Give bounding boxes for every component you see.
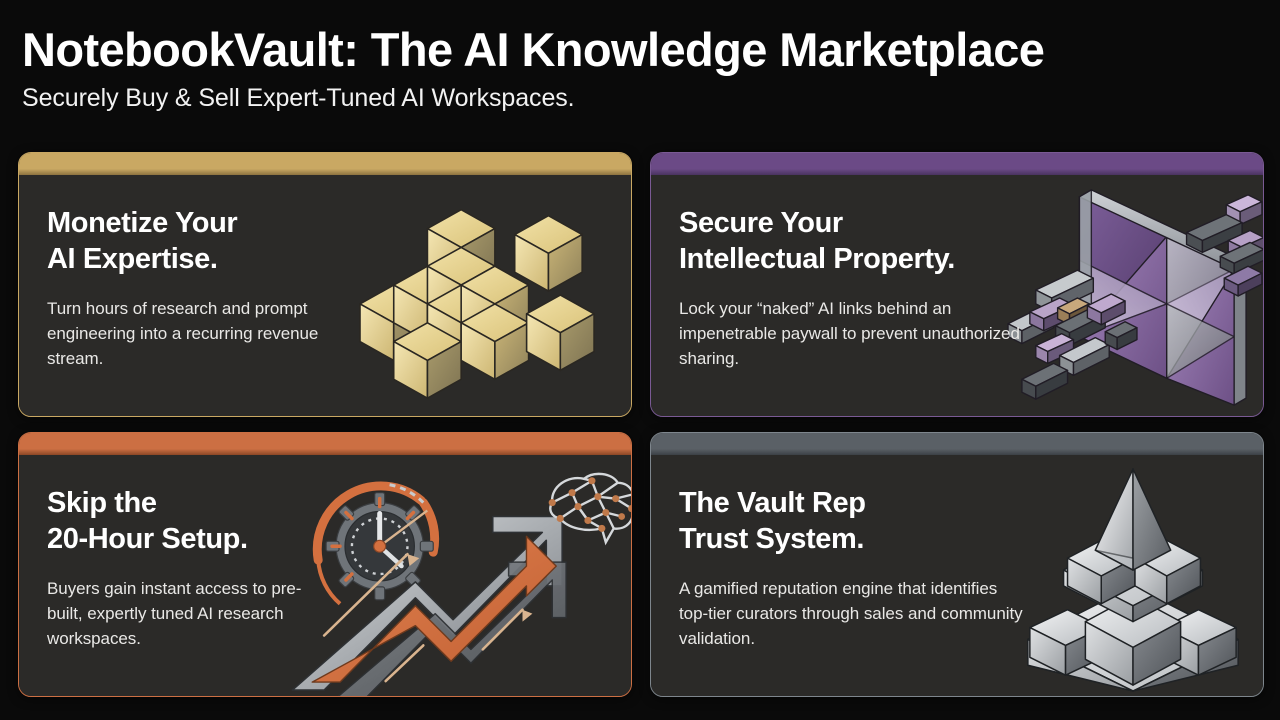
page-subtitle: Securely Buy & Sell Expert-Tuned AI Work… <box>22 82 1262 114</box>
card-surface: Monetize Your AI Expertise. Turn hours o… <box>19 175 631 416</box>
card-heading-line-1: Skip the <box>47 485 335 521</box>
card-description: Turn hours of research and prompt engine… <box>47 296 377 371</box>
card-heading-line-2: 20-Hour Setup. <box>47 521 335 557</box>
card-text-block: Skip the 20-Hour Setup. Buyers gain inst… <box>47 485 335 651</box>
card-heading-line-1: The Vault Rep <box>679 485 1027 521</box>
feature-card-grid: Monetize Your AI Expertise. Turn hours o… <box>18 152 1262 700</box>
card-description: A gamified reputation engine that identi… <box>679 576 1027 651</box>
card-heading-line-2: Trust System. <box>679 521 1027 557</box>
card-surface: Secure Your Intellectual Property. Lock … <box>651 175 1263 416</box>
card-heading: Monetize Your AI Expertise. <box>47 205 377 277</box>
card-description: Lock your “naked” AI links behind an imp… <box>679 296 1051 371</box>
card-heading-line-2: Intellectual Property. <box>679 241 1051 277</box>
card-heading-line-2: AI Expertise. <box>47 241 377 277</box>
card-accent-bar <box>19 433 631 455</box>
slide-header: NotebookVault: The AI Knowledge Marketpl… <box>22 22 1262 114</box>
card-text-block: Secure Your Intellectual Property. Lock … <box>679 205 1051 371</box>
slide-canvas: NotebookVault: The AI Knowledge Marketpl… <box>0 0 1280 720</box>
feature-card-monetize-ai-expertise[interactable]: Monetize Your AI Expertise. Turn hours o… <box>18 152 632 417</box>
silver-stepped-pyramid-icon <box>1007 455 1259 696</box>
card-heading: Skip the 20-Hour Setup. <box>47 485 335 557</box>
card-heading-line-1: Monetize Your <box>47 205 377 241</box>
card-heading: The Vault Rep Trust System. <box>679 485 1027 557</box>
page-title: NotebookVault: The AI Knowledge Marketpl… <box>22 22 1262 78</box>
feature-card-skip-20-hour-setup[interactable]: Skip the 20-Hour Setup. Buyers gain inst… <box>18 432 632 697</box>
card-accent-bar <box>651 153 1263 175</box>
card-surface: The Vault Rep Trust System. A gamified r… <box>651 455 1263 696</box>
card-text-block: Monetize Your AI Expertise. Turn hours o… <box>47 205 377 371</box>
card-description: Buyers gain instant access to pre-built,… <box>47 576 335 651</box>
feature-card-secure-intellectual-property[interactable]: Secure Your Intellectual Property. Lock … <box>650 152 1264 417</box>
feature-card-vault-rep-trust-system[interactable]: The Vault Rep Trust System. A gamified r… <box>650 432 1264 697</box>
card-accent-bar <box>19 153 631 175</box>
card-accent-bar <box>651 433 1263 455</box>
card-surface: Skip the 20-Hour Setup. Buyers gain inst… <box>19 455 631 696</box>
card-heading: Secure Your Intellectual Property. <box>679 205 1051 277</box>
stopwatch-growth-arrow-brain-icon <box>287 455 632 696</box>
card-text-block: The Vault Rep Trust System. A gamified r… <box>679 485 1027 651</box>
card-heading-line-1: Secure Your <box>679 205 1051 241</box>
